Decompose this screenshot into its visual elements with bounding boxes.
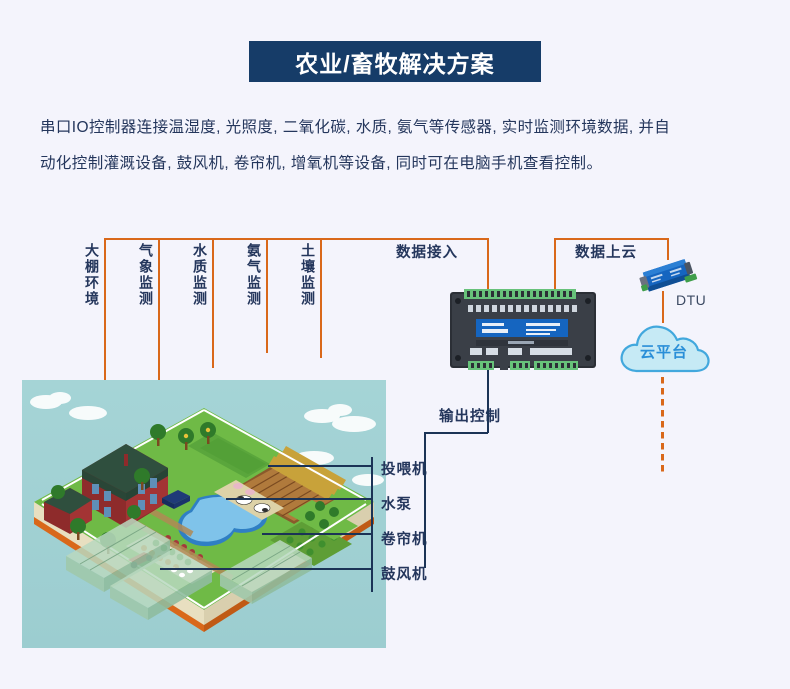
description-line-1: 串口IO控制器连接温湿度, 光照度, 二氧化碳, 水质, 氨气等传感器, 实时监… [40,110,755,146]
output-control-horizontal [424,432,488,434]
flow-label-output-control: 输出控制 [439,405,501,426]
cloud-platform: 云平台 [616,317,712,379]
device-label-roller-shutter: 卷帘机 [381,528,428,549]
output-control-left-rail [424,432,426,568]
cloud-rail-horizontal [554,238,668,240]
description-line-2: 动化控制灌溉设备, 鼓风机, 卷帘机, 增氧机等设备, 同时可在电脑手机查看控制… [40,146,755,182]
farm-illustration-svg [22,380,386,648]
sensor-rail-horizontal [104,238,489,240]
solution-diagram: 大棚环境 气象监测 水质监测 氨气监测 土壤监测 数据接入 数据上云 输出控制 … [0,225,790,689]
page-title-banner: 农业/畜牧解决方案 [249,41,541,82]
io-controller-svg [450,288,596,370]
page-title: 农业/畜牧解决方案 [295,45,494,79]
controller-ingest-drop [487,238,489,290]
device-line-feeder [268,465,372,467]
farm-illustration [22,380,386,648]
sensor-drop-3 [212,238,214,368]
sensor-label-weather: 气象监测 [137,243,154,307]
output-control-drop [487,370,489,433]
device-bracket-vertical [371,457,373,592]
device-line-blower [160,568,372,570]
cloud-to-monitor-dashed-line [661,377,664,473]
flow-label-data-ingest: 数据接入 [396,241,458,262]
device-label-blower: 鼓风机 [381,563,428,584]
page-root: 农业/畜牧解决方案 串口IO控制器连接温湿度, 光照度, 二氧化碳, 水质, 氨… [0,0,790,689]
sensor-label-water-quality: 水质监测 [191,243,208,307]
sensor-label-soil: 土壤监测 [299,243,316,307]
sensor-label-ammonia: 氨气监测 [245,243,262,307]
sensor-drop-4 [266,238,268,353]
device-label-water-pump: 水泵 [381,493,412,514]
dtu-device [637,255,699,297]
flow-label-data-to-cloud: 数据上云 [575,241,637,262]
description-block: 串口IO控制器连接温湿度, 光照度, 二氧化碳, 水质, 氨气等传感器, 实时监… [40,110,755,182]
device-line-roller [262,533,372,535]
cloud-rail-drop-left [554,238,556,290]
device-label-feeder: 投喂机 [381,458,428,479]
device-line-pump [226,498,372,500]
sensor-label-greenhouse: 大棚环境 [83,243,100,307]
sensor-drop-5 [320,238,322,358]
io-controller-device [450,288,596,370]
dtu-device-svg [637,255,699,297]
cloud-platform-label: 云平台 [616,317,712,379]
